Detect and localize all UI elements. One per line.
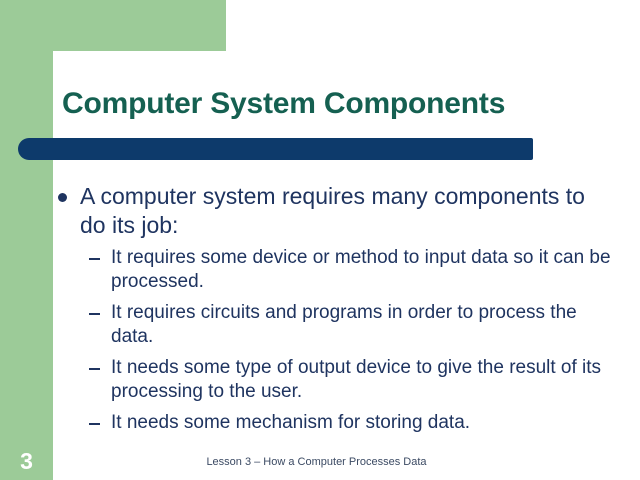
bullet-dash-icon [89,368,100,370]
presentation-slide: Computer System Components A computer sy… [0,0,640,480]
sub-bullet-list: It requires some device or method to inp… [58,246,633,435]
bullet-text: A computer system requires many componen… [80,182,600,240]
bullet-dash-icon [89,423,100,425]
sub-bullet-item: It needs some mechanism for storing data… [89,411,633,435]
slide-body: A computer system requires many componen… [58,182,633,442]
slide-number: 3 [0,448,53,475]
sub-bullet-item: It needs some type of output device to g… [89,356,633,404]
sub-bullet-text: It needs some type of output device to g… [111,356,611,404]
green-sidebar-decoration [0,0,53,480]
sub-bullet-item: It requires circuits and programs in ord… [89,301,633,349]
sub-bullet-text: It requires some device or method to inp… [111,246,611,294]
sub-bullet-text: It needs some mechanism for storing data… [111,411,611,435]
sub-bullet-item: It requires some device or method to inp… [89,246,633,294]
slide-footer: Lesson 3 – How a Computer Processes Data [53,456,580,468]
bullet-dot-icon [58,193,67,202]
page-title: Computer System Components [62,87,622,121]
title-accent-bar [18,138,533,160]
bullet-dash-icon [89,313,100,315]
sub-bullet-text: It requires circuits and programs in ord… [111,301,611,349]
bullet-dash-icon [89,258,100,260]
bullet-item: A computer system requires many componen… [58,182,633,240]
